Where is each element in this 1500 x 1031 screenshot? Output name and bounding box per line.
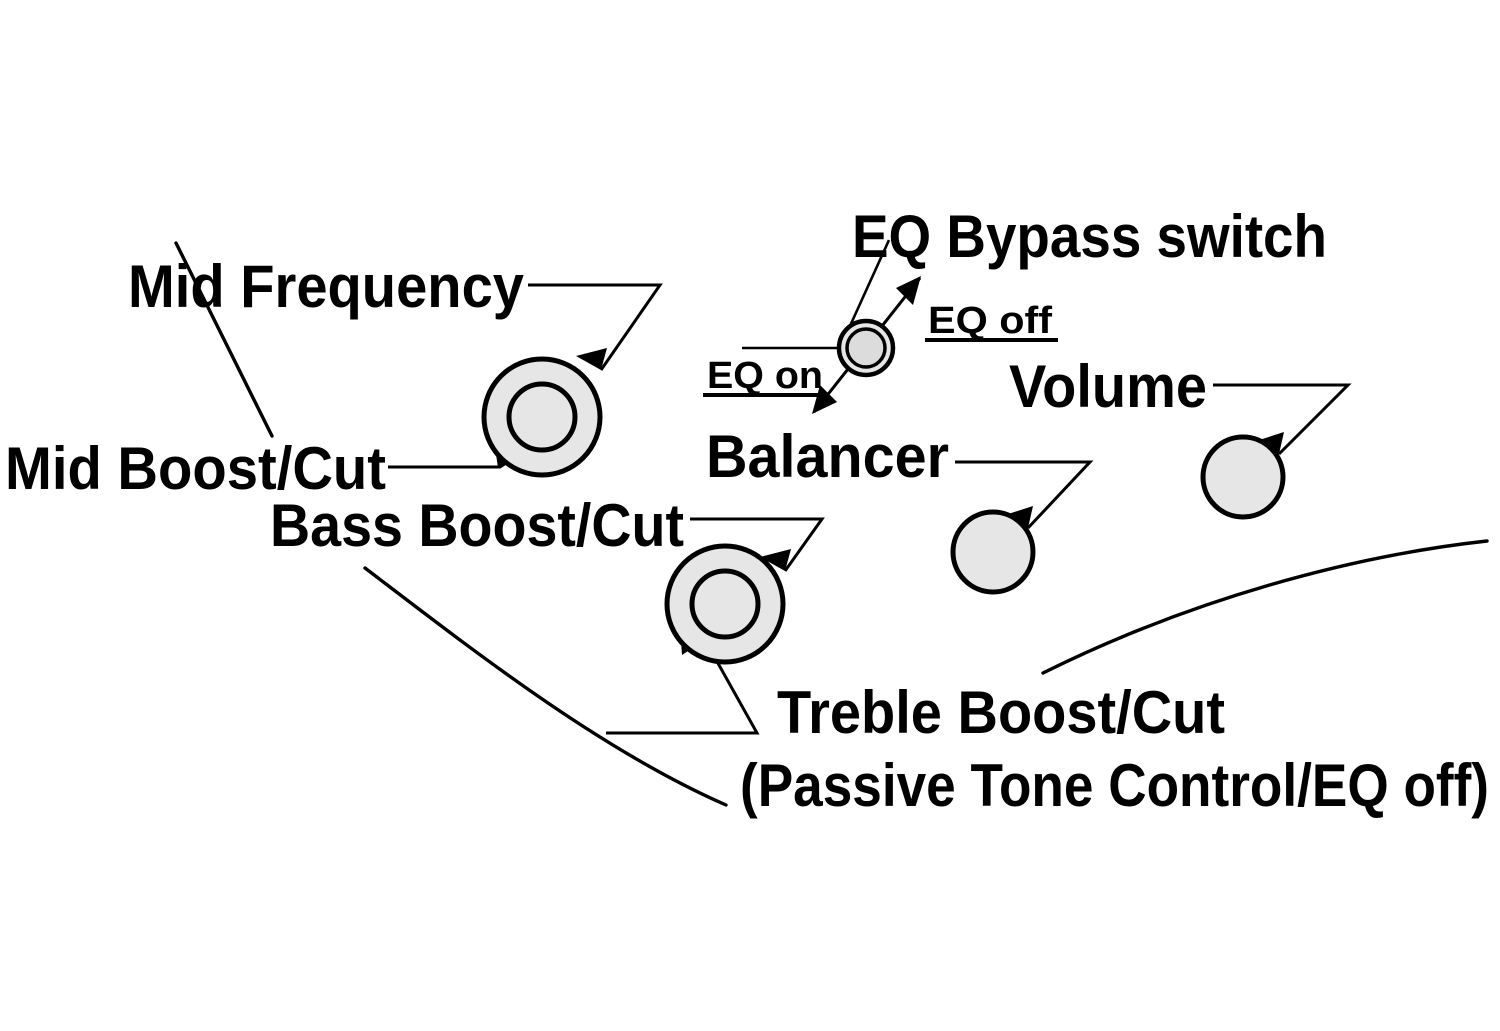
balancer-pot[interactable] (953, 512, 1033, 592)
label-volume: Volume (1009, 353, 1207, 420)
label-treble-passive-tone: (Passive Tone Control/EQ off) (740, 752, 1489, 819)
label-balancer: Balancer (706, 423, 949, 490)
label-treble-boost-cut: Treble Boost/Cut (777, 679, 1225, 746)
volume-pot[interactable] (1203, 437, 1283, 517)
label-eq-bypass-switch: EQ Bypass switch (852, 203, 1327, 270)
bass-knob[interactable] (667, 546, 783, 662)
label-bass-boost-cut: Bass Boost/Cut (270, 492, 684, 559)
mid-knob[interactable] (484, 359, 600, 475)
label-eq-off: EQ off (928, 300, 1052, 342)
eq-bypass-switch[interactable] (839, 321, 893, 375)
body-contour-right-curve (1043, 541, 1487, 673)
switch-arrow-up (896, 276, 921, 305)
label-mid-frequency: Mid Frequency (128, 253, 525, 320)
mid-knob-inner-ring[interactable] (509, 384, 575, 450)
eq-bypass-switch-cap[interactable] (847, 329, 885, 367)
diagram-canvas: Mid Frequency Mid Boost/Cut Bass Boost/C… (0, 0, 1500, 1031)
bass-knob-inner-ring[interactable] (692, 571, 758, 637)
label-eq-on: EQ on (707, 355, 823, 397)
bass-control-layout-diagram: Mid Frequency Mid Boost/Cut Bass Boost/C… (0, 0, 1500, 1031)
